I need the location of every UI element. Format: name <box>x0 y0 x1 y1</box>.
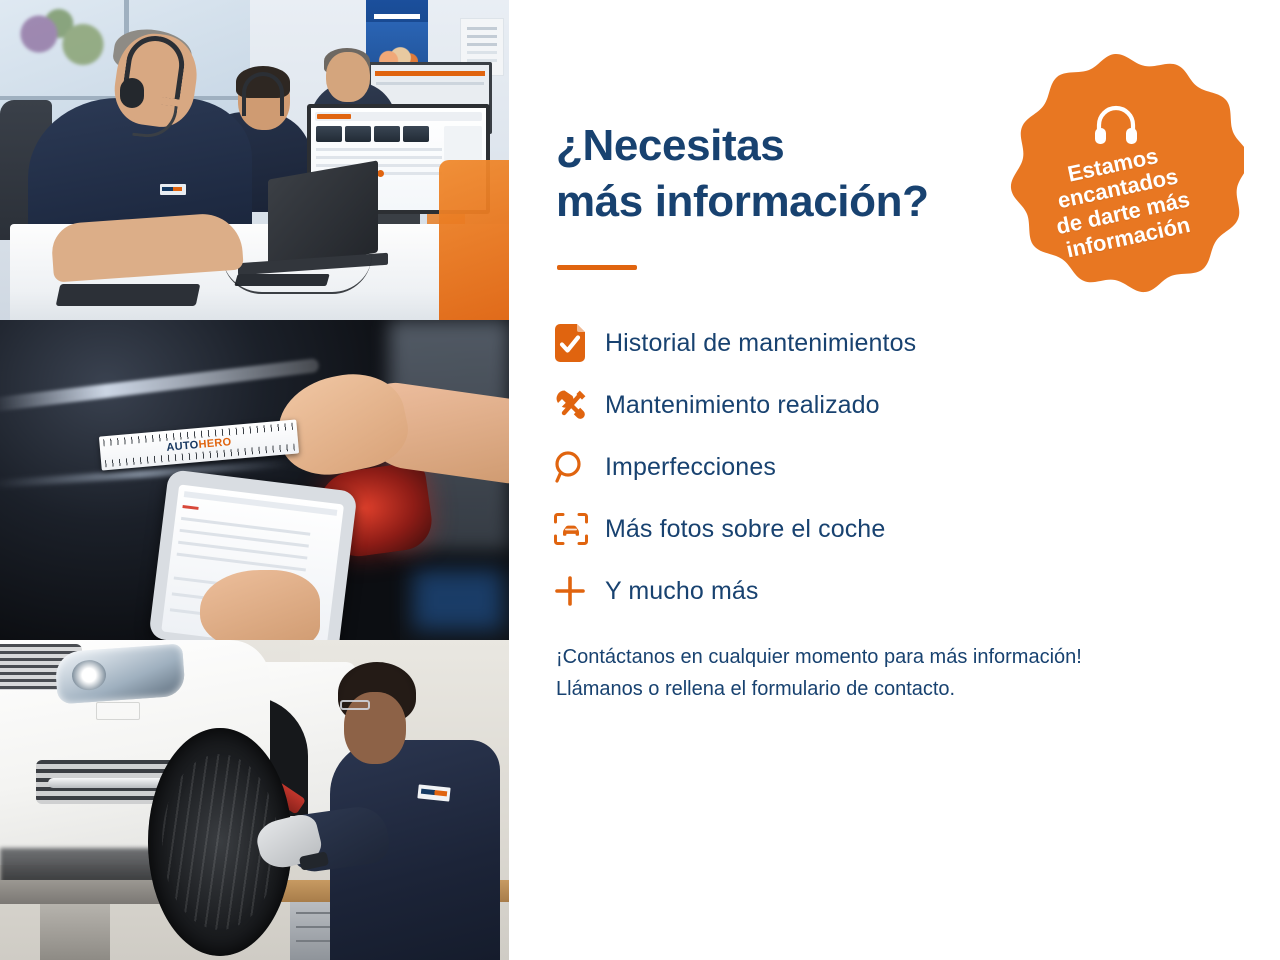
feature-label: Y mucho más <box>605 577 758 606</box>
feature-label: Mantenimiento realizado <box>605 391 880 420</box>
checklist-document-icon <box>553 324 605 362</box>
title-divider <box>557 265 637 270</box>
page-title: ¿Necesitas más información? <box>556 118 1026 231</box>
feature-list: Historial de mantenimientos Mantenimient… <box>553 312 1053 622</box>
tools-wrench-screwdriver-icon <box>553 387 605 423</box>
feature-item-fotos: Más fotos sobre el coche <box>553 498 1053 560</box>
contact-text: ¡Contáctanos en cualquier momento para m… <box>556 641 1236 706</box>
agent-3-head <box>326 52 370 102</box>
car-lift-post <box>40 904 110 960</box>
feature-item-mucho-mas: Y mucho más <box>553 560 1053 622</box>
inspector-hand-holding-tablet <box>200 570 320 640</box>
page-title-line-1: ¿Necesitas <box>556 118 1026 174</box>
feature-item-historial: Historial de mantenimientos <box>553 312 1053 374</box>
feature-label: Historial de mantenimientos <box>605 329 916 358</box>
promo-banner: AUTOHERO <box>0 0 1280 960</box>
desk-cable <box>222 254 372 294</box>
orange-chair <box>439 160 509 320</box>
feature-item-imperfecciones: Imperfecciones <box>553 436 1053 498</box>
badge-text: Estamos encantados de darte más informac… <box>964 28 1268 332</box>
mechanic-tyre-workshop-photo <box>0 640 509 960</box>
outside-foliage <box>6 6 116 76</box>
photo-column: AUTOHERO <box>0 0 509 960</box>
feature-label: Imperfecciones <box>605 453 776 482</box>
page-title-line-2: más información? <box>556 174 1026 230</box>
feature-label: Más fotos sobre el coche <box>605 515 885 544</box>
background-blue-light <box>413 570 503 630</box>
magnifier-icon <box>553 450 605 484</box>
status-badge-starburst: Estamos encantados de darte más informac… <box>988 52 1244 308</box>
contact-line-2: Llámanos o rellena el formulario de cont… <box>556 673 1236 705</box>
car-headlight <box>54 644 185 705</box>
autohero-polo-badge <box>160 184 186 195</box>
call-center-agents-photo <box>0 0 509 320</box>
car-viewfinder-icon <box>553 512 605 546</box>
agent-2-headset <box>242 72 284 116</box>
feature-item-mantenimiento: Mantenimiento realizado <box>553 374 1053 436</box>
contact-line-1: ¡Contáctanos en cualquier momento para m… <box>556 641 1236 673</box>
plus-icon <box>553 574 605 608</box>
car-plate-area <box>96 702 140 720</box>
desk-tablet <box>56 284 201 306</box>
mechanic-glasses <box>340 700 370 710</box>
car-inspection-ruler-photo: AUTOHERO <box>0 320 509 640</box>
